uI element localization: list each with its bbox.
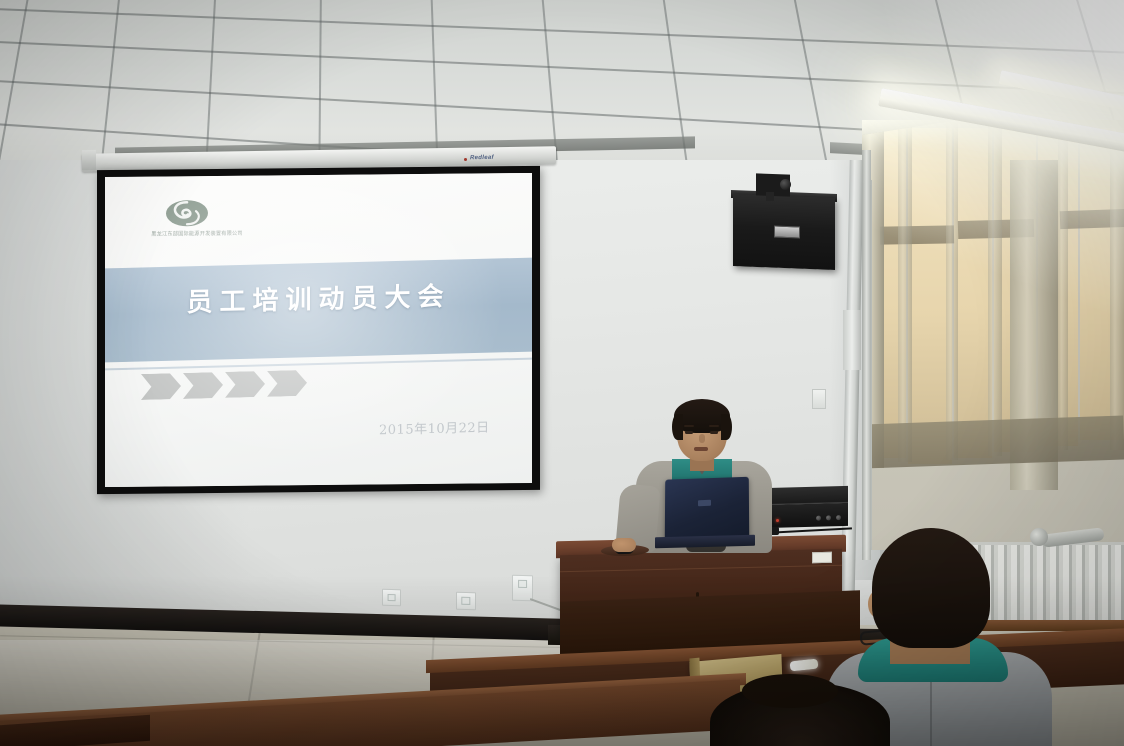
laptop-computer[interactable] [665, 477, 749, 542]
audience-right-head [872, 528, 990, 648]
slide-date: 2015年10月22日 [379, 417, 490, 439]
presentation-slide: 黑龙江东部国际能源开发装置有限公司 员工培训动员大会 2015年10月22日 [105, 173, 532, 487]
audio-amplifier-unit [760, 502, 848, 528]
presenter-hair-right [721, 414, 732, 440]
wall-switch-panel[interactable] [812, 389, 826, 409]
projector-screen-brand-label: Redleaf [470, 155, 494, 161]
curtain-band-trim [880, 225, 954, 244]
camera-lens-icon [780, 179, 791, 190]
curtain-pleat [898, 122, 912, 462]
presenter-brow-right [709, 425, 719, 427]
presenter-hair-left [672, 414, 683, 440]
power-led-indicator [776, 519, 779, 522]
curtain-pleat [1058, 120, 1068, 450]
curtain-hem-band [862, 415, 1124, 468]
presenter-eye-right [710, 431, 718, 434]
wall-socket-1[interactable] [382, 589, 401, 606]
laptop-brand-logo-icon [698, 500, 711, 506]
projector-screen-end-cap [82, 150, 96, 170]
curtain-pleat [1110, 120, 1124, 450]
curtain-pleat [946, 122, 958, 460]
window-with-curtains [862, 120, 1124, 550]
brand-dot-icon [464, 158, 467, 161]
speaker-brand-badge [774, 226, 800, 239]
audience-center-hair-tuft [742, 674, 838, 708]
curtain-pleat [988, 120, 1002, 456]
chevron-arrow-icon [183, 372, 223, 399]
conference-room-photo: Redleaf 黑龙江东部国际能源开发装置有限公司 员工培训动员大会 [0, 0, 1124, 746]
chevron-arrow-icon [141, 373, 181, 400]
desk-asset-tag [812, 552, 832, 563]
projection-screen-surface: 黑龙江东部国际能源开发装置有限公司 员工培训动员大会 2015年10月22日 [105, 173, 532, 487]
presenter-hand [612, 538, 636, 552]
presenter-eye-left [685, 431, 693, 434]
camera-mount-bracket [766, 192, 774, 201]
chevron-arrow-icon [267, 370, 307, 397]
chevron-arrow-icon [225, 371, 265, 398]
presenter-brow-left [684, 425, 694, 427]
presenter-nose [699, 434, 705, 443]
window-left-mullion [862, 150, 871, 560]
presenter-mouth [694, 447, 708, 451]
projection-screen-frame: 黑龙江东部国际能源开发装置有限公司 员工培训动员大会 2015年10月22日 [97, 166, 540, 494]
radiator-valve [1030, 528, 1048, 546]
slide-company-name: 黑龙江东部国际能源开发装置有限公司 [131, 230, 263, 238]
pipe-junction-box [843, 310, 861, 370]
wall-socket-2[interactable] [456, 592, 476, 610]
damask-sheer-curtain [954, 128, 992, 458]
company-logo-icon [165, 198, 209, 228]
slide-chevron-arrows [141, 370, 307, 400]
